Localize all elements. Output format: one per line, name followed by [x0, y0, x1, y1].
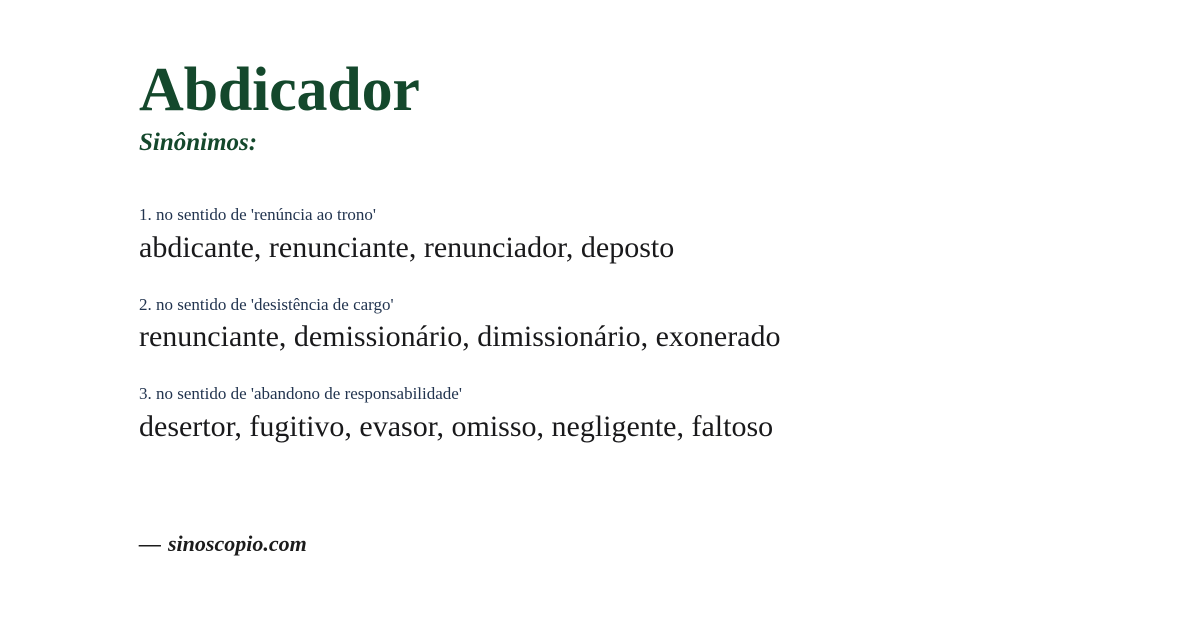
sense-label: 3. no sentido de 'abandono de responsabi…	[139, 383, 1200, 406]
list-item: 1. no sentido de 'renúncia ao trono' abd…	[139, 204, 1200, 268]
synonym-card: Abdicador Sinônimos: 1. no sentido de 'r…	[0, 0, 1200, 628]
sense-list: 1. no sentido de 'renúncia ao trono' abd…	[139, 157, 1200, 447]
sense-label: 2. no sentido de 'desistência de cargo'	[139, 294, 1200, 317]
sense-label: 1. no sentido de 'renúncia ao trono'	[139, 204, 1200, 227]
list-item: 2. no sentido de 'desistência de cargo' …	[139, 294, 1200, 358]
sense-synonyms: renunciante, demissionário, dimissionári…	[139, 317, 1200, 357]
attribution-source: sinoscopio.com	[168, 531, 307, 556]
section-subtitle: Sinônimos:	[139, 122, 1200, 157]
sense-synonyms: desertor, fugitivo, evasor, omisso, negl…	[139, 407, 1200, 447]
page-title: Abdicador	[139, 0, 1200, 122]
em-dash-icon: —	[139, 531, 161, 556]
list-item: 3. no sentido de 'abandono de responsabi…	[139, 383, 1200, 447]
attribution: —sinoscopio.com	[139, 531, 307, 557]
sense-synonyms: abdicante, renunciante, renunciador, dep…	[139, 228, 1200, 268]
